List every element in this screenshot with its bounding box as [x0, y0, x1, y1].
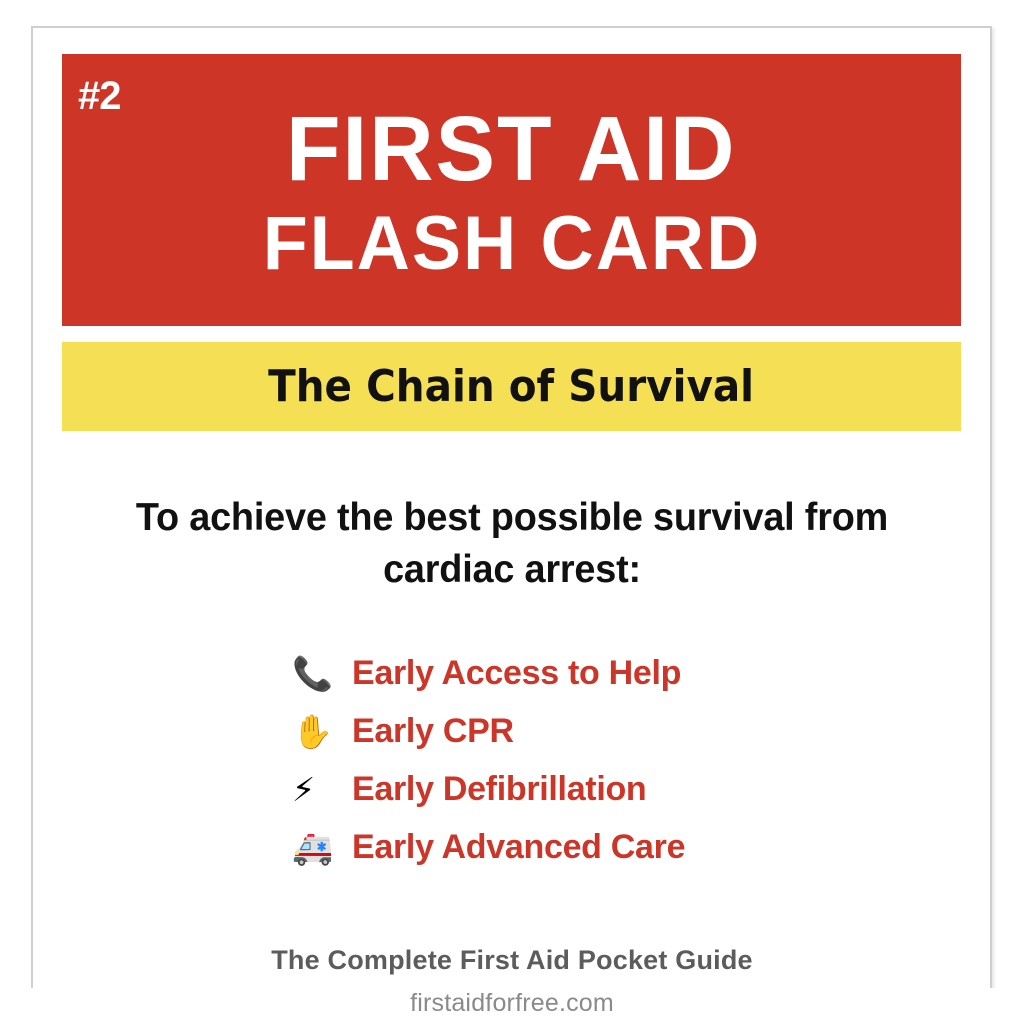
telephone-receiver-icon: 📞 [288, 657, 352, 690]
chain-of-survival-list: 📞 Early Access to Help ✋ Early CPR ⚡ Ear… [288, 644, 848, 876]
list-item-label: Early Defibrillation [352, 772, 646, 806]
list-item-label: Early Access to Help [352, 656, 681, 690]
high-voltage-icon: ⚡ [288, 773, 352, 806]
intro-paragraph: To achieve the best possible survival fr… [124, 492, 900, 596]
footer-website-url: firstaidforfree.com [0, 988, 1024, 1018]
list-item: ✋ Early CPR [288, 702, 848, 760]
topic-title: The Chain of Survival [269, 365, 755, 409]
raised-hand-icon: ✋ [288, 715, 352, 748]
subtitle-bar: The Chain of Survival [62, 342, 961, 431]
page-title: FIRST AID [286, 104, 736, 194]
list-item-label: Early Advanced Care [352, 830, 685, 864]
list-item: ⚡ Early Defibrillation [288, 760, 848, 818]
header-title-group: FIRST AID FLASH CARD [62, 54, 961, 326]
page-subtitle: FLASH CARD [262, 206, 761, 282]
footer-guide-title: The Complete First Aid Pocket Guide [0, 947, 1024, 974]
list-item: 🚑 Early Advanced Care [288, 818, 848, 876]
ambulance-icon: 🚑 [288, 831, 352, 864]
list-item-label: Early CPR [352, 714, 514, 748]
header-banner: #2 FIRST AID FLASH CARD [62, 54, 961, 326]
list-item: 📞 Early Access to Help [288, 644, 848, 702]
flashcard-page: #2 FIRST AID FLASH CARD The Chain of Sur… [0, 0, 1024, 1024]
